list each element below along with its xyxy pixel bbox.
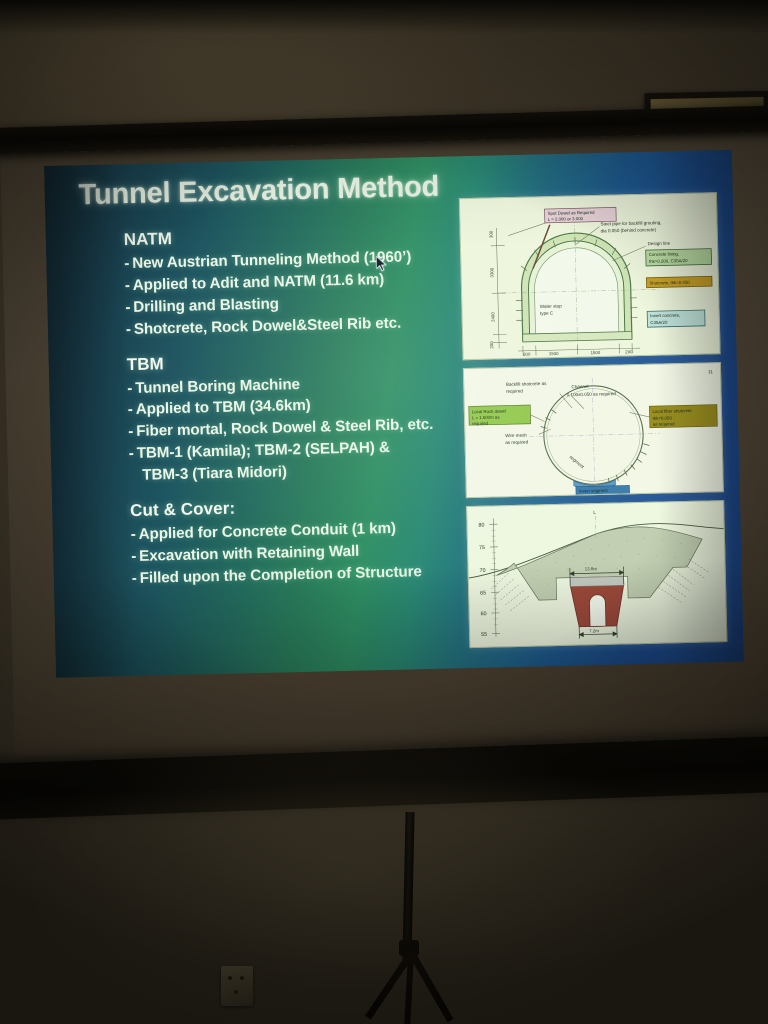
slide-canvas: Tunnel Excavation Method NATM -New Austr… (44, 150, 744, 678)
socket-hole (240, 976, 244, 980)
axis-tick-label: 80 (478, 522, 484, 528)
diagram-label: Local fiber shotcrete (652, 408, 692, 414)
bullet-dash: - (131, 548, 136, 565)
bullet-text: Shotcrete, Rock Dowel&Steel Rib etc. (134, 314, 402, 337)
ceiling-shadow (0, 0, 768, 34)
axis-tick-label: 55 (481, 632, 487, 638)
tbm-circular-cross-section-diagram: Invert segment Backfill shotcrete as req… (463, 362, 724, 498)
diagram-label: Invert concrete, (650, 313, 680, 319)
natm-tunnel-cross-section-diagram: Spot Dowel as Required L = 2.000 or 3.00… (459, 192, 721, 360)
bullet-text: Applied to Adit and NATM (11.6 km) (133, 271, 385, 294)
diagram-dimension: 200 (523, 352, 531, 357)
bullet-text: Filled upon the Completion of Structure (140, 563, 422, 587)
bullet-text: TBM-1 (Kamila); TBM-2 (SELPAH) & (137, 439, 390, 462)
diagram-column: Spot Dowel as Required L = 2.000 or 3.00… (459, 192, 728, 648)
diagram-dimension: 1500 (590, 350, 600, 355)
diagram-label: Water stop (540, 303, 562, 309)
bullet-dash: - (125, 299, 130, 316)
cut-and-cover-cross-section-diagram: 13.8m 7.2m L (466, 500, 727, 648)
diagram-label: Concrete lining, (649, 251, 679, 257)
diagram-label: Design line (647, 241, 670, 247)
bullet-text: Tunnel Boring Machine (135, 376, 300, 397)
diagram-label: type C (540, 311, 554, 316)
bullet-dash: - (127, 380, 132, 397)
diagram-label: required (506, 388, 523, 393)
axis-tick-label: 60 (481, 611, 487, 617)
projected-slide: Tunnel Excavation Method NATM -New Austr… (44, 150, 744, 678)
diagram-dimension: 2400 (490, 312, 495, 322)
slide-title: Tunnel Excavation Method (78, 171, 439, 212)
bullet-dash: - (126, 321, 131, 338)
axis-tick-label: 75 (479, 545, 485, 551)
section-cut-and-cover: Cut & Cover: -Applied for Concrete Condu… (130, 493, 492, 590)
diagram-dimension: 200 (625, 349, 633, 354)
bullet-dash: - (128, 423, 133, 440)
bullet-text: Excavation with Retaining Wall (139, 543, 359, 565)
diagram-dimension: 13.8m (585, 566, 598, 571)
diagram-label: required (472, 421, 489, 426)
bullet-dash: - (125, 277, 130, 294)
lower-wall-light (0, 700, 768, 1024)
socket-hole (228, 976, 232, 980)
bullet-dash: - (132, 570, 137, 587)
diagram-label: Backfill shotcrete as (506, 381, 547, 387)
diagram-dimension: 200 (489, 341, 494, 349)
axis-tick-label: 65 (480, 590, 486, 596)
diagram-dimension: 7.2m (589, 628, 599, 633)
axis-tick-label: 70 (480, 568, 486, 574)
bullet-text: Applied to TBM (34.6km) (136, 397, 311, 418)
conference-room-scene: Tunnel Excavation Method NATM -New Austr… (0, 0, 768, 1024)
bullet-dash: - (131, 526, 136, 543)
diagram-dimension: 300 (488, 230, 493, 238)
bullet-dash: - (129, 445, 134, 462)
diagram-label: Shotcrete, thk=0.050 (649, 280, 690, 286)
diagram-label: thk=0.050 (653, 415, 673, 420)
diagram-label: L = 2.000 or 3.000 (548, 216, 584, 222)
section-tbm: TBM -Tunnel Boring Machine -Applied to T… (126, 346, 489, 487)
diagram-label: as required (505, 439, 528, 445)
diagram-dimension: 3300 (489, 267, 494, 277)
bullet-dash: - (124, 255, 129, 272)
diagram-label: Local Rock dowel (472, 409, 506, 415)
diagram-page-mark: 11 (708, 369, 713, 374)
tbm-diagram-svg: Invert segment Backfill shotcrete as req… (464, 363, 723, 497)
diagram-label: Wire mesh (505, 433, 527, 439)
socket-hole (234, 990, 238, 994)
section-natm: NATM -New Austrian Tunneling Method (196… (124, 222, 487, 341)
diagram-label: Channel (571, 384, 588, 389)
slide-body-content: NATM -New Austrian Tunneling Method (196… (124, 222, 493, 604)
bullet-text: Drilling and Blasting (133, 295, 279, 315)
bullet-text: Applied for Concrete Conduit (1 km) (138, 520, 396, 543)
wall-power-socket (221, 966, 253, 1006)
diagram-dimension: 1500 (549, 351, 559, 356)
diagram-label: Invert segment (579, 488, 609, 494)
diagram-label: thk=0.200, C35A/20 (649, 258, 688, 264)
natm-diagram-svg: Spot Dowel as Required L = 2.000 or 3.00… (460, 193, 720, 359)
diagram-label: C35A/20 (650, 320, 668, 325)
cutcover-diagram-svg: 13.8m 7.2m L (467, 501, 726, 647)
diagram-label: as required (653, 421, 675, 427)
diagram-label: L = 1.500m as (472, 415, 500, 421)
bullet-dash: - (128, 401, 133, 418)
